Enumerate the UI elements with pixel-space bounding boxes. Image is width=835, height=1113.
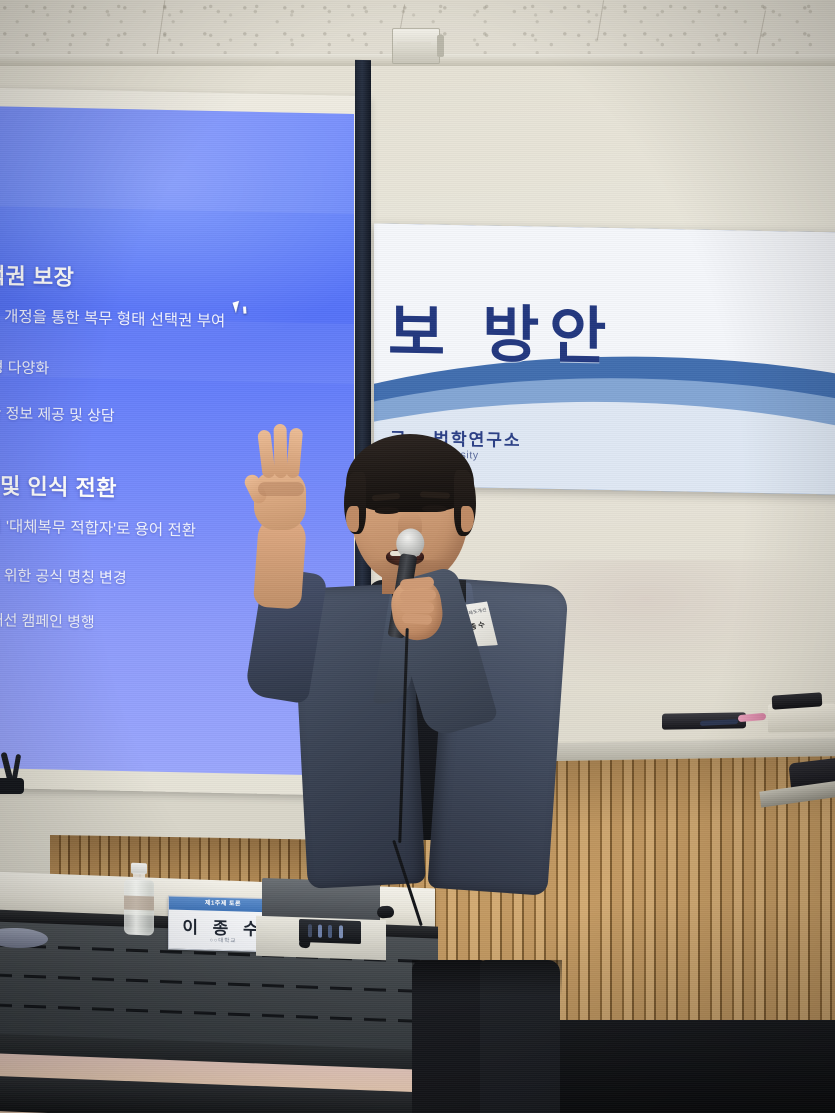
finger <box>400 589 437 602</box>
slide-bullet-1: 제65조 개정을 통한 복무 형태 선택권 부여 <box>0 303 225 331</box>
mic-stand-arm <box>12 754 21 780</box>
slide-bullet-3: 충분한 정보 제공 및 상담 <box>0 401 115 425</box>
slide-bullet-2: 무 유형 다양화 <box>0 355 49 378</box>
microphone-stand-icon <box>0 752 28 796</box>
water-bottle-icon <box>124 862 154 935</box>
banner-title: 보 방안 <box>388 282 616 376</box>
projector-mount-icon <box>392 28 440 64</box>
ceiling-tile-seam <box>156 0 166 62</box>
projector-vent <box>397 42 431 46</box>
eye-left <box>375 507 399 514</box>
raised-finger <box>286 428 303 479</box>
slide-bullet-4: 자'에서 '대체복무 적합자'로 용어 전환 <box>0 513 196 540</box>
ear-left <box>346 506 359 532</box>
mic-stand-base <box>0 778 24 794</box>
folded-fingers <box>258 482 304 496</box>
conference-photo-scene: 보 방안 교 …법학연구소 … University 선택권 보장 제65조 개… <box>0 0 835 1113</box>
slide-heading-2: 개선 및 인식 전환 <box>0 467 117 503</box>
bottle-label <box>124 895 154 910</box>
slide-bullet-6: 인식 개선 캠페인 병행 <box>0 608 95 632</box>
speaker-person: 대체복무제도개선 이 종 수 <box>230 420 570 1113</box>
slide-bullet-5: 과 방지 위한 공식 명칭 변경 <box>0 563 127 588</box>
raised-finger <box>274 424 288 478</box>
slide-heading-1: 선택권 보장 <box>0 258 74 292</box>
finger <box>400 602 434 614</box>
ceiling-tile-seam <box>597 0 604 40</box>
eye-right <box>422 505 447 512</box>
finger <box>402 613 433 625</box>
